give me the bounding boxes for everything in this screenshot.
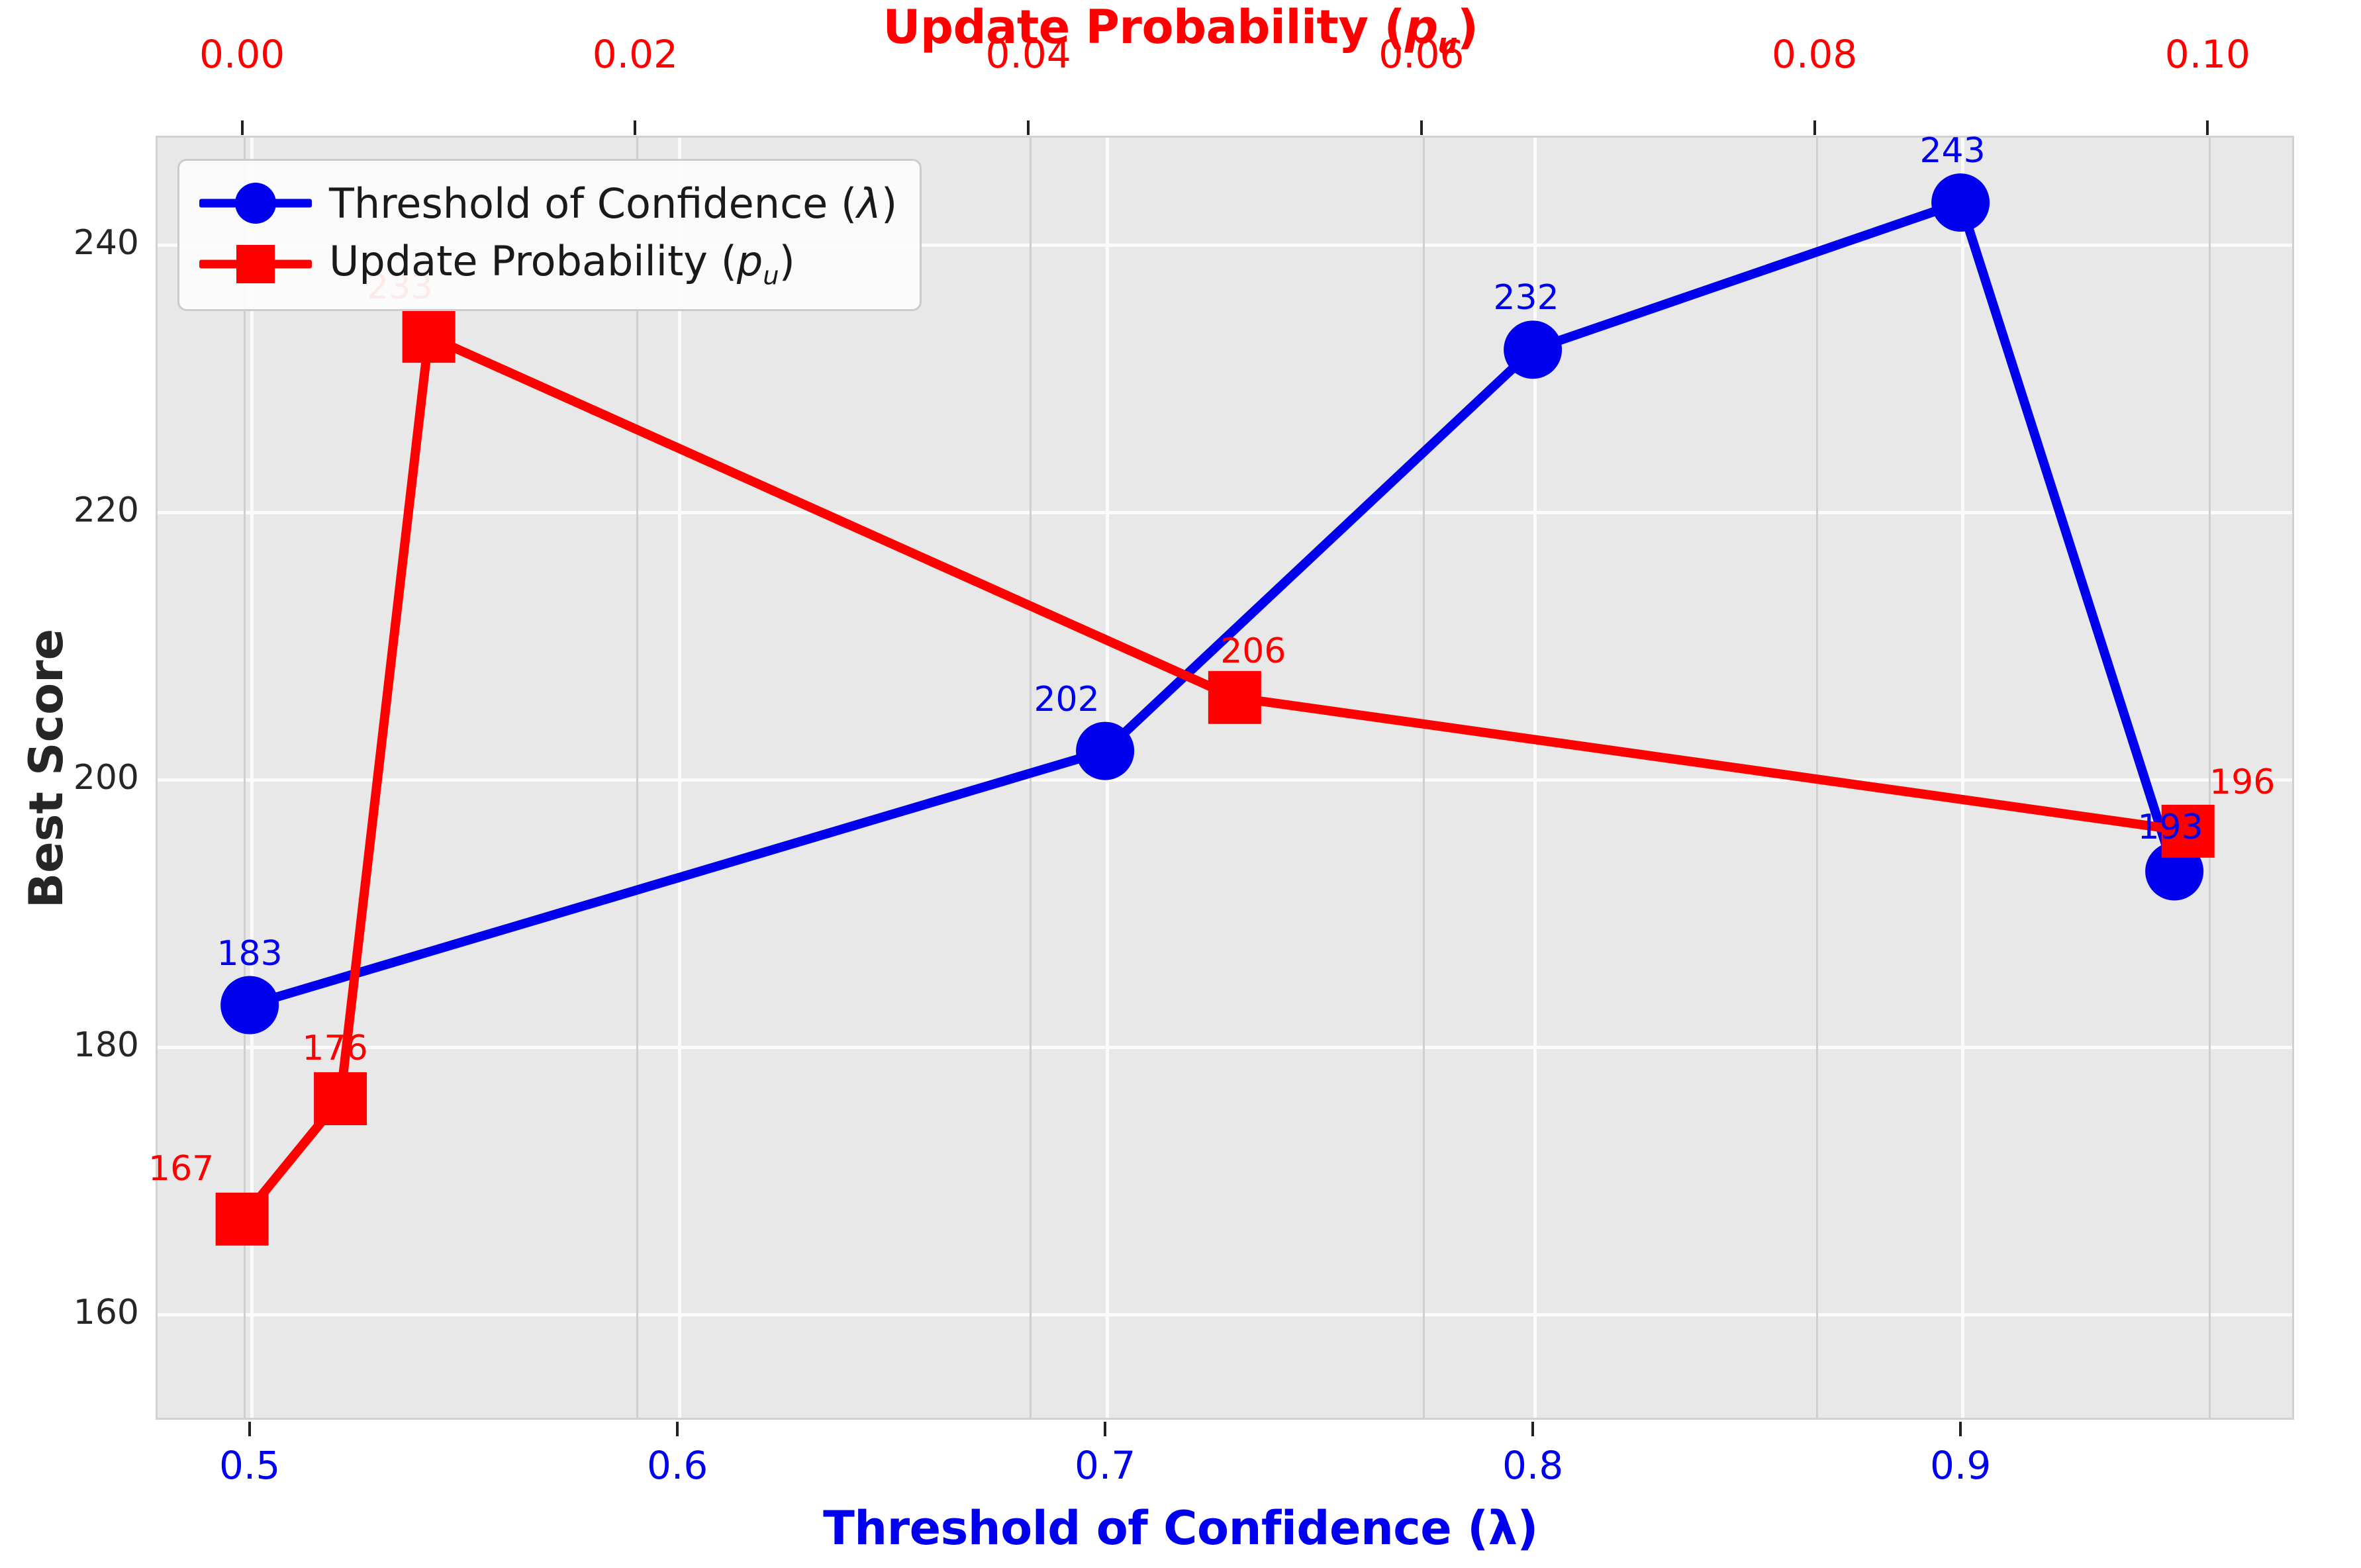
top-axis-title-prefix: Update Probability (	[883, 0, 1405, 54]
legend-item-threshold[interactable]: Threshold of Confidence (λ)	[199, 173, 897, 234]
data-point-value-label: 243	[1919, 131, 1985, 171]
x-tick-top-4-mark	[1813, 120, 1816, 135]
x-tick-top-5-label: 0.10	[2165, 32, 2250, 77]
x-tick-bottom-2-mark	[1104, 1422, 1106, 1436]
gridline-vertical-bottom	[1961, 138, 1964, 1418]
data-point-value-label: 167	[148, 1149, 214, 1189]
bottom-axis-title: Threshold of Confidence (λ)	[0, 1501, 2361, 1555]
gridline-horizontal	[158, 1313, 2292, 1316]
legend-marker-square	[236, 245, 275, 283]
y-tick-4-label: 240	[40, 223, 139, 263]
gridline-vertical-bottom	[250, 138, 254, 1418]
x-tick-top-3-mark	[1420, 120, 1423, 135]
bottom-axis-title-suffix: )	[1517, 1501, 1538, 1555]
x-tick-bottom-0-label: 0.5	[219, 1443, 280, 1488]
x-tick-bottom-1-mark	[676, 1422, 679, 1436]
y-tick-0-label: 160	[40, 1293, 139, 1332]
x-tick-top-0-label: 0.00	[199, 32, 285, 77]
x-tick-top-1-mark	[634, 120, 636, 135]
plot-area	[156, 136, 2294, 1420]
data-point-value-label: 176	[302, 1029, 367, 1068]
gridline-vertical-bottom	[1106, 138, 1109, 1418]
gridline-vertical-bottom	[678, 138, 681, 1418]
legend[interactable]: Threshold of Confidence (λ) Update Proba…	[177, 159, 922, 311]
bottom-axis-title-symbol: λ	[1488, 1501, 1518, 1555]
data-point-value-label: 202	[1034, 680, 1099, 719]
legend-label-update-probability: Update Probability (pu)	[329, 237, 795, 291]
gridline-horizontal	[158, 511, 2292, 514]
data-point-value-label: 193	[2137, 807, 2203, 847]
legend-key-update-probability	[199, 244, 312, 284]
gridline-vertical-top	[1423, 138, 1425, 1418]
x-tick-top-2-label: 0.04	[986, 32, 1071, 77]
data-point-value-label: 206	[1220, 631, 1286, 671]
y-axis-title: Best Score	[19, 504, 73, 1033]
x-tick-bottom-4-mark	[1959, 1422, 1962, 1436]
x-tick-bottom-3-mark	[1531, 1422, 1534, 1436]
gridline-horizontal	[158, 778, 2292, 782]
x-tick-top-5-mark	[2206, 120, 2209, 135]
x-tick-bottom-0-mark	[248, 1422, 251, 1436]
x-tick-top-3-label: 0.06	[1378, 32, 1464, 77]
legend-item-update-probability[interactable]: Update Probability (pu)	[199, 234, 897, 295]
gridline-vertical-top	[1030, 138, 1032, 1418]
x-tick-top-1-label: 0.02	[593, 32, 678, 77]
x-tick-bottom-4-label: 0.9	[1930, 1443, 1991, 1488]
data-point-value-label: 232	[1493, 278, 1559, 318]
gridline-vertical-top	[1816, 138, 1818, 1418]
gridline-vertical-bottom	[1533, 138, 1537, 1418]
x-tick-top-0-mark	[241, 120, 244, 135]
x-tick-top-4-label: 0.08	[1772, 32, 1857, 77]
top-axis-title: Update Probability (pu)	[0, 0, 2361, 60]
gridline-vertical-top	[244, 138, 246, 1418]
legend-key-threshold	[199, 183, 312, 223]
data-point-value-label: 183	[217, 934, 282, 974]
x-tick-top-2-mark	[1027, 120, 1030, 135]
x-tick-bottom-3-label: 0.8	[1502, 1443, 1563, 1488]
data-point-value-label: 196	[2209, 762, 2275, 802]
chart-figure: Update Probability (pu) 0.50.60.70.80.90…	[0, 0, 2361, 1568]
x-tick-bottom-1-label: 0.6	[647, 1443, 708, 1488]
bottom-axis-title-prefix: Threshold of Confidence (	[823, 1501, 1488, 1555]
x-tick-bottom-2-label: 0.7	[1075, 1443, 1135, 1488]
gridline-vertical-top	[636, 138, 638, 1418]
gridline-horizontal	[158, 1046, 2292, 1049]
legend-marker-circle	[235, 183, 276, 224]
legend-label-threshold: Threshold of Confidence (λ)	[329, 179, 897, 228]
